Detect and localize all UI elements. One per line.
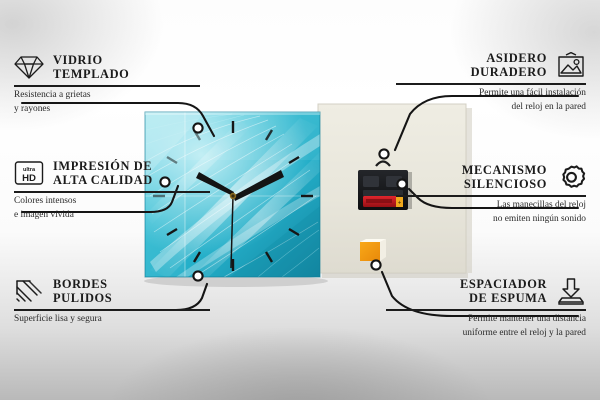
feature-desc-line1: Colores intensos xyxy=(14,196,210,207)
feature-espaciador-de-espuma: ESPACIADOR DE ESPUMA Permite mantener un… xyxy=(386,276,586,339)
gear-icon xyxy=(556,162,586,192)
feature-title-line1: ESPACIADOR xyxy=(460,277,547,291)
feature-title-line2: SILENCIOSO xyxy=(462,177,547,191)
feature-title-line2: DURADERO xyxy=(471,65,547,79)
feature-title-line1: BORDES xyxy=(53,277,112,291)
feature-title-line1: VIDRIO xyxy=(53,53,129,67)
endpoint-espaciador xyxy=(371,260,380,269)
feature-desc-line2: y rayones xyxy=(14,104,200,115)
feature-title-line2: ALTA CALIDAD xyxy=(53,173,153,187)
feature-divider xyxy=(14,309,210,311)
feature-desc-line2: no emiten ningún sonido xyxy=(396,214,586,225)
feature-divider xyxy=(386,309,586,311)
feature-desc-line2: e imagen vívida xyxy=(14,210,210,221)
feature-title-line2: PULIDOS xyxy=(53,291,112,305)
feature-bordes-pulidos: BORDES PULIDOS Superficie lisa y segura xyxy=(14,276,210,325)
diamond-icon xyxy=(14,52,44,82)
feature-desc-line1: Permite mantener una distancia xyxy=(386,314,586,325)
feature-desc-line2: uniforme entre el reloj y la pared xyxy=(386,328,586,339)
feature-title-line1: IMPRESIÓN DE xyxy=(53,159,153,173)
feature-asidero-duradero: ASIDERO DURADERO Permite una fácil insta… xyxy=(396,50,586,113)
feature-desc-line1: Las manecillas del reloj xyxy=(396,200,586,211)
feature-desc-line2: del reloj en la pared xyxy=(396,102,586,113)
endpoint-vidrio xyxy=(193,123,202,132)
feature-divider xyxy=(396,83,586,85)
feature-desc-line1: Superficie lisa y segura xyxy=(14,314,210,325)
infographic-canvas: + xyxy=(0,0,600,400)
feature-title-line2: DE ESPUMA xyxy=(460,291,547,305)
ultra-hd-icon: ultra HD xyxy=(14,158,44,188)
svg-text:HD: HD xyxy=(22,173,36,184)
feature-title-line1: MECANISMO xyxy=(462,163,547,177)
foam-spacer-icon xyxy=(556,276,586,306)
feature-title-line1: ASIDERO xyxy=(471,51,547,65)
feature-divider xyxy=(14,85,200,87)
feature-mecanismo-silencioso: MECANISMO SILENCIOSO Las manecillas del … xyxy=(396,162,586,225)
feature-divider xyxy=(396,195,586,197)
endpoint-asidero xyxy=(379,149,388,158)
feature-divider xyxy=(14,191,210,193)
feature-title-line2: TEMPLADO xyxy=(53,67,129,81)
feature-desc-line1: Permite una fácil instalación xyxy=(396,88,586,99)
polished-edges-icon xyxy=(14,276,44,306)
feature-vidrio-templado: VIDRIO TEMPLADO Resistencia a grietas y … xyxy=(14,52,200,115)
feature-desc-line1: Resistencia a grietas xyxy=(14,90,200,101)
picture-hanger-icon xyxy=(556,50,586,80)
feature-impresion-alta-calidad: ultra HD IMPRESIÓN DE ALTA CALIDAD Color… xyxy=(14,158,210,221)
